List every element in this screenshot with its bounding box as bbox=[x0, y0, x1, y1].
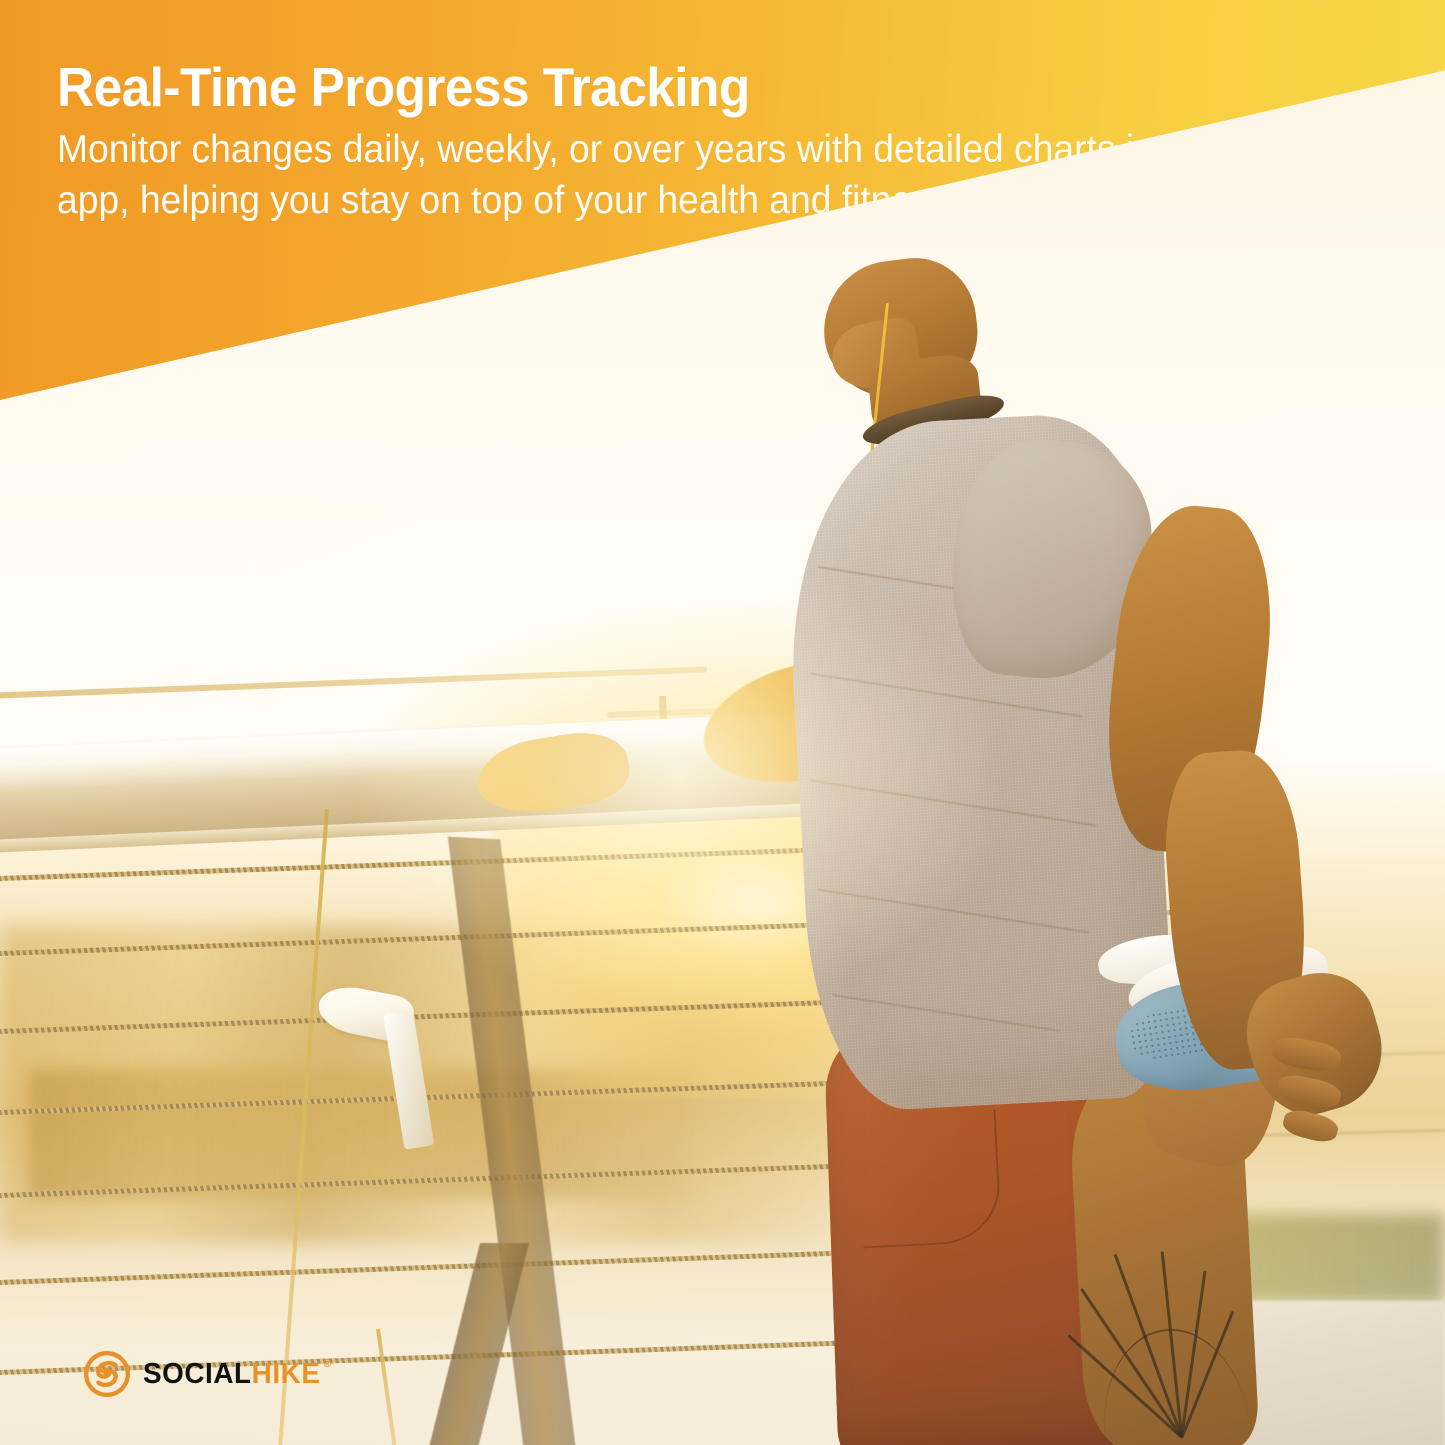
page-title: Real-Time Progress Tracking bbox=[57, 58, 1207, 116]
socialhike-spiral-icon bbox=[84, 1351, 130, 1397]
logo-wordmark: SOCIAL HIKE ® bbox=[143, 1360, 332, 1389]
left-hand bbox=[472, 726, 633, 821]
shorts-pocket bbox=[856, 1109, 1002, 1248]
logo-word-hike: HIKE bbox=[252, 1360, 321, 1389]
finger bbox=[1281, 1106, 1341, 1145]
promo-poster: Real-Time Progress Tracking Monitor chan… bbox=[0, 0, 1445, 1445]
logo-word-social: SOCIAL bbox=[143, 1360, 252, 1389]
brand-logo[interactable]: SOCIAL HIKE ® bbox=[84, 1351, 340, 1397]
registered-trademark-icon: ® bbox=[323, 1359, 331, 1370]
